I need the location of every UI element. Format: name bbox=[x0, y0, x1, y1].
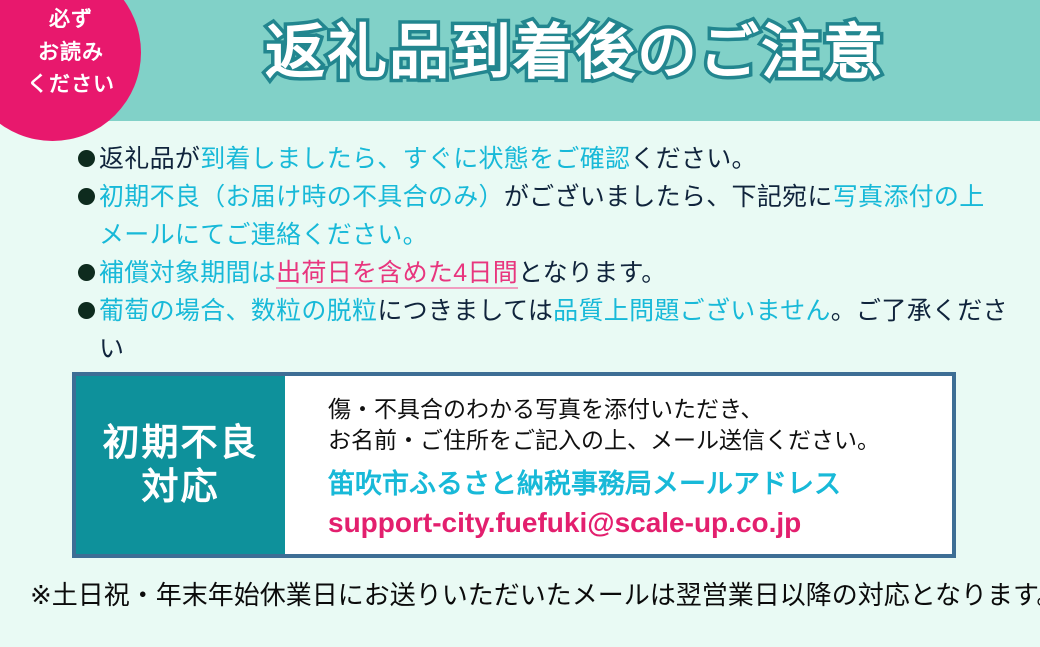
notice-segment: 補償対象期間は bbox=[99, 259, 276, 287]
must-read-badge-line3: ください bbox=[0, 69, 142, 102]
header-band: 返礼品到着後のご注意 bbox=[0, 0, 1040, 121]
bullet-dot-icon bbox=[78, 264, 95, 281]
notice-item-text: 返礼品が到着しましたら、すぐに状態をご確認ください。 bbox=[99, 140, 1008, 178]
notice-item: 初期不良（お届け時の不具合のみ）がございましたら、下記宛に写真添付の上メールにて… bbox=[78, 178, 1008, 254]
must-read-badge-line1: 必ず bbox=[0, 4, 142, 37]
notice-poster: 返礼品到着後のご注意 必ず お読み ください 返礼品が到着しましたら、すぐに状態… bbox=[0, 0, 1040, 647]
notice-item-continuation: メールにてご連絡ください。 bbox=[99, 216, 1008, 254]
bullet-dot-icon bbox=[78, 150, 95, 167]
notice-segment: ください。 bbox=[630, 145, 757, 173]
notice-segment: 到着しましたら、すぐに状態をご確認 bbox=[200, 145, 630, 173]
footnote: ※土日祝・年末年始休業日にお送りいただいたメールは翌営業日以降の対応となります。 bbox=[30, 578, 1040, 612]
notice-item-text: 補償対象期間は出荷日を含めた4日間となります。 bbox=[99, 254, 1008, 292]
contact-mail-heading: 笛吹市ふるさと納税事務局メールアドレス bbox=[328, 467, 952, 501]
notice-segment: となります。 bbox=[518, 259, 667, 287]
must-read-badge-line2: お読み bbox=[0, 37, 142, 70]
notice-item-line: 初期不良（お届け時の不具合のみ）がございましたら、下記宛に写真添付の上 bbox=[99, 178, 1008, 216]
contact-body: 傷・不具合のわかる写真を添付いただき、 お名前・ご住所をご記入の上、メール送信く… bbox=[285, 376, 952, 554]
contact-mail-address[interactable]: support-city.fuefuki@scale-up.co.jp bbox=[328, 505, 952, 540]
notice-list: 返礼品が到着しましたら、すぐに状態をご確認ください。初期不良（お届け時の不具合の… bbox=[78, 140, 1008, 406]
notice-item-line: 返礼品が到着しましたら、すぐに状態をご確認ください。 bbox=[99, 140, 1008, 178]
contact-instruction-line2: お名前・ご住所をご記入の上、メール送信ください。 bbox=[328, 425, 952, 456]
bullet-dot-icon bbox=[78, 188, 95, 205]
must-read-badge-text: 必ず お読み ください bbox=[0, 4, 142, 102]
notice-segment: 写真添付の上 bbox=[833, 183, 985, 211]
bullet-dot-icon bbox=[78, 302, 95, 319]
page-title: 返礼品到着後のご注意 bbox=[265, 18, 885, 87]
notice-segment: につきましては bbox=[377, 297, 553, 325]
notice-item-line: 葡萄の場合、数粒の脱粒につきましては品質上問題ございません。ご了承ください bbox=[99, 292, 1008, 368]
initial-defect-label-line2: 対応 bbox=[142, 465, 220, 509]
contact-instruction-line1: 傷・不具合のわかる写真を添付いただき、 bbox=[328, 394, 952, 425]
notice-item-line: 補償対象期間は出荷日を含めた4日間となります。 bbox=[99, 254, 1008, 292]
notice-item: 補償対象期間は出荷日を含めた4日間となります。 bbox=[78, 254, 1008, 292]
notice-segment: 返礼品が bbox=[99, 145, 200, 173]
notice-segment: 出荷日を含めた4日間 bbox=[276, 259, 518, 289]
initial-defect-label: 初期不良 対応 bbox=[76, 376, 285, 554]
notice-item: 返礼品が到着しましたら、すぐに状態をご確認ください。 bbox=[78, 140, 1008, 178]
notice-segment: 初期不良（お届け時の不具合のみ） bbox=[99, 183, 504, 211]
notice-segment: がございましたら、下記宛に bbox=[504, 183, 833, 211]
notice-item-text: 初期不良（お届け時の不具合のみ）がございましたら、下記宛に写真添付の上メールにて… bbox=[99, 178, 1008, 254]
notice-segment: 葡萄の場合、数粒の脱粒 bbox=[99, 297, 377, 325]
notice-segment: メールにてご連絡ください。 bbox=[99, 221, 428, 249]
initial-defect-label-line1: 初期不良 bbox=[103, 421, 259, 465]
notice-segment: 品質上問題ございません bbox=[553, 297, 831, 325]
initial-defect-contact-box: 初期不良 対応 傷・不具合のわかる写真を添付いただき、 お名前・ご住所をご記入の… bbox=[72, 372, 956, 558]
